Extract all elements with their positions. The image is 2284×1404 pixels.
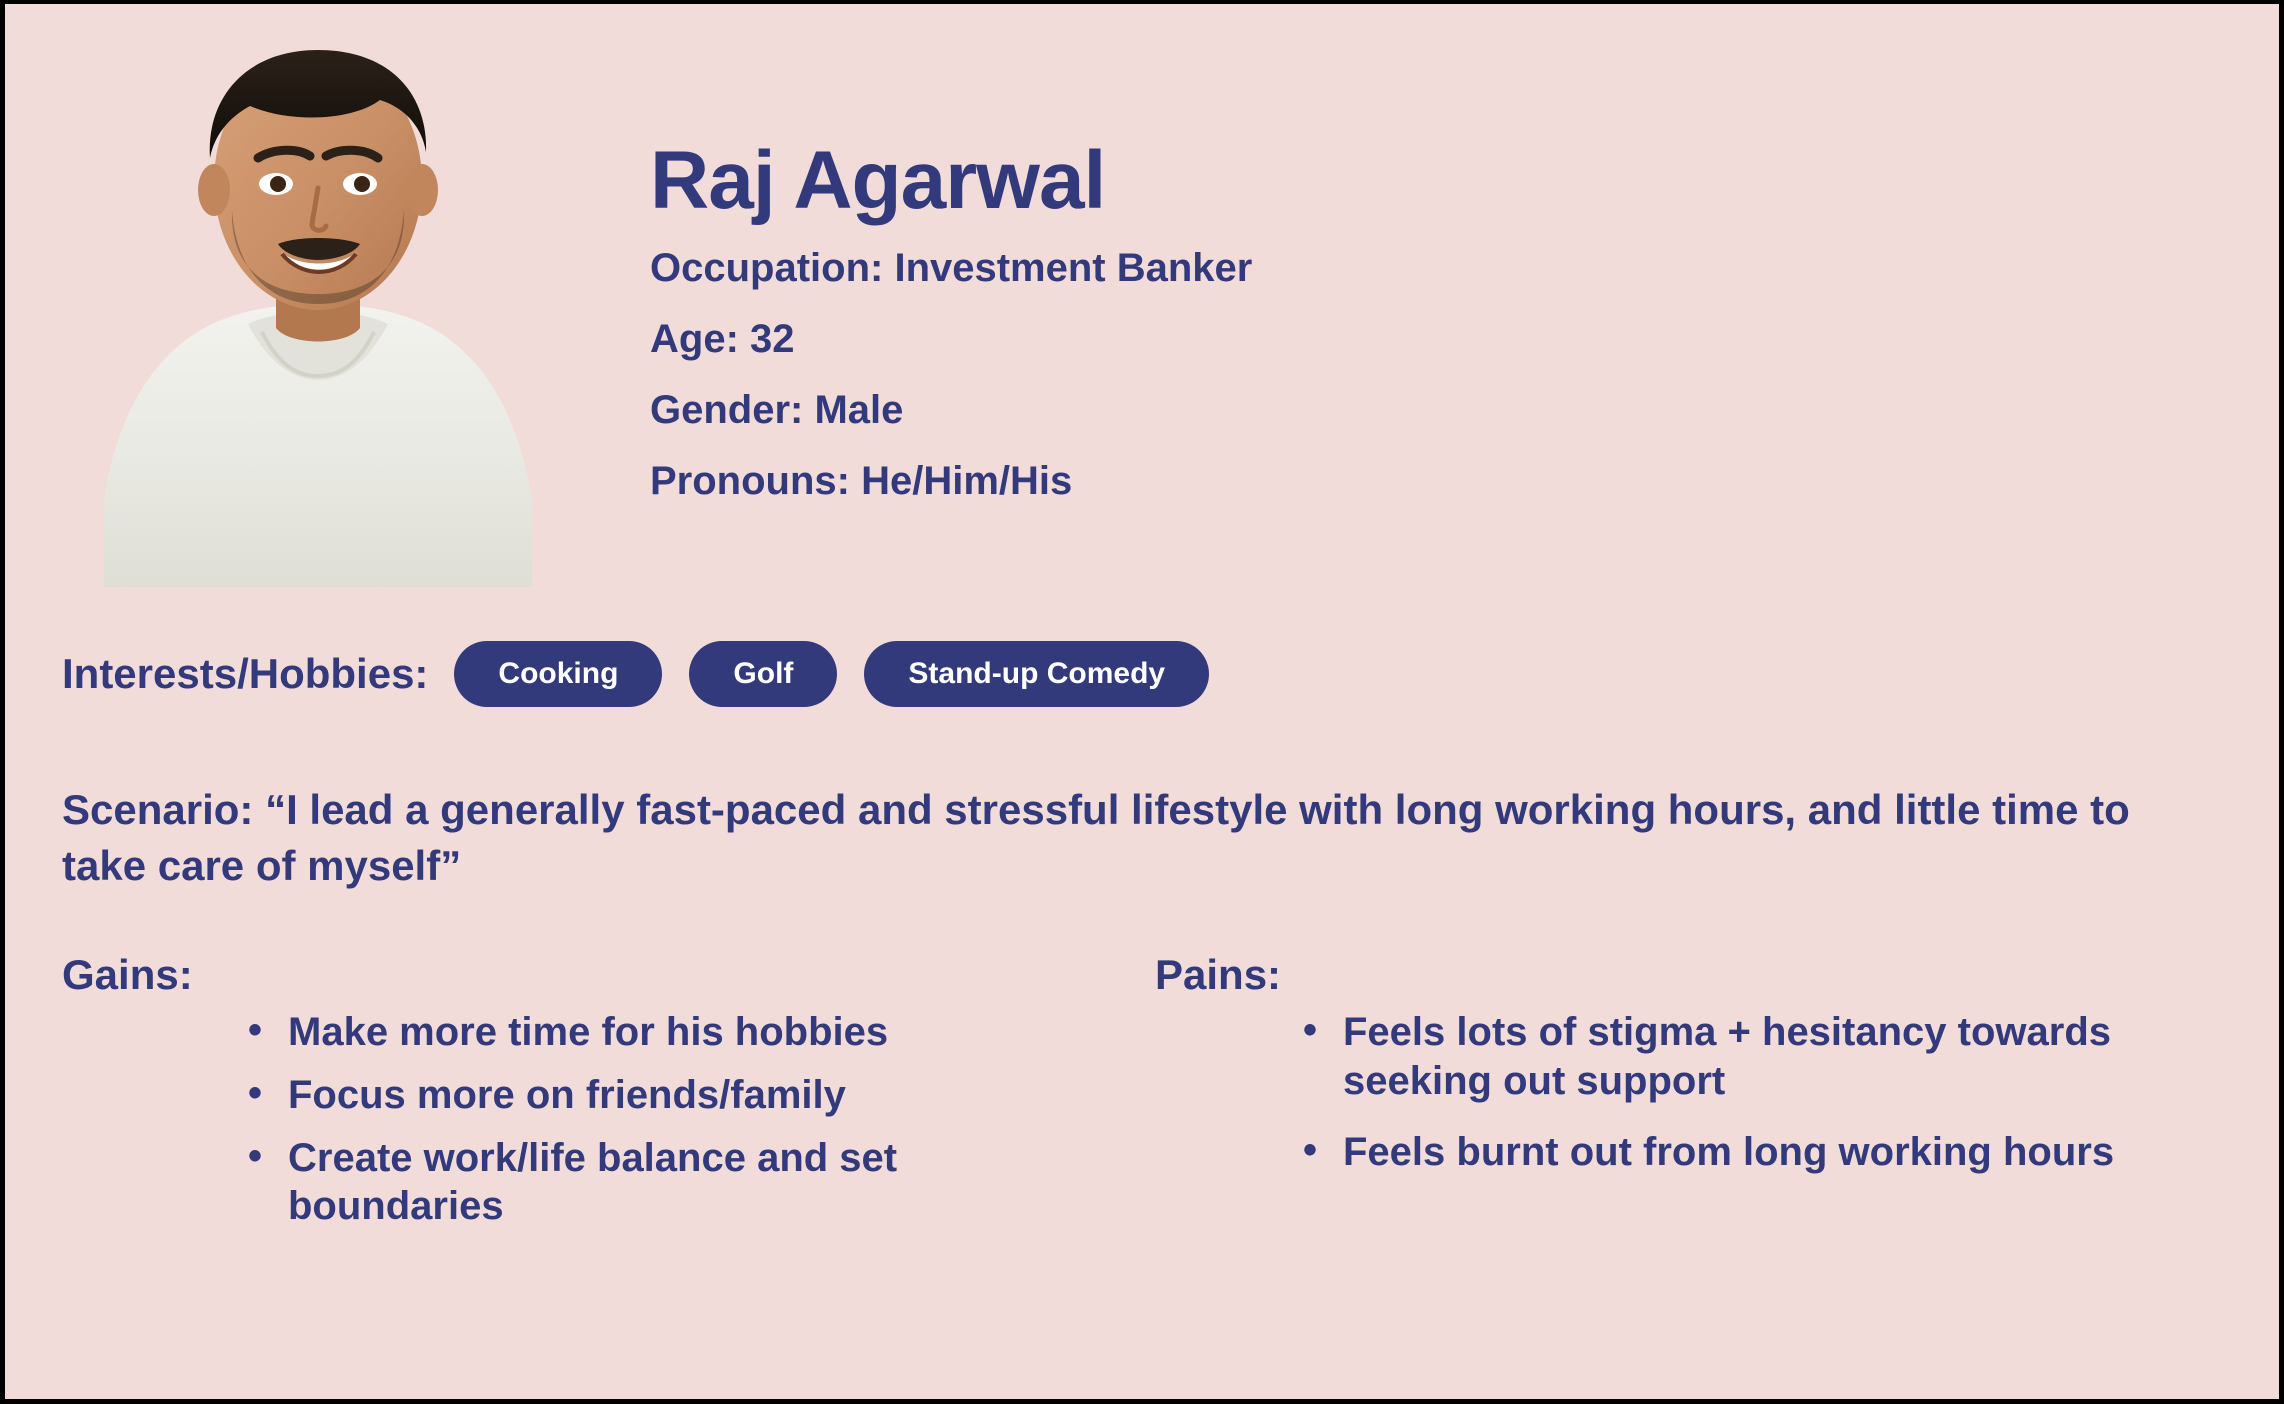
list-item: Feels lots of stigma + hesitancy towards… [1295, 1008, 2265, 1106]
interests-label: Interests/Hobbies: [62, 653, 428, 695]
identity-block: Raj Agarwal Occupation: Investment Banke… [650, 140, 2050, 501]
pains-column: Pains: Feels lots of stigma + hesitancy … [1155, 954, 2265, 1198]
gains-column: Gains: Make more time for his hobbies Fo… [62, 954, 1122, 1245]
page-title: Raj Agarwal [650, 140, 2050, 222]
gains-list: Make more time for his hobbies Focus mor… [240, 1008, 1122, 1231]
detail-gender: Gender: Male [650, 390, 2050, 430]
detail-age: Age: 32 [650, 319, 2050, 359]
interest-pill-standup-comedy[interactable]: Stand-up Comedy [864, 641, 1209, 707]
interest-pill-golf[interactable]: Golf [689, 641, 837, 707]
list-item: Make more time for his hobbies [240, 1008, 1122, 1057]
interest-pill-cooking[interactable]: Cooking [454, 641, 662, 707]
pains-title: Pains: [1155, 954, 2265, 996]
pains-list: Feels lots of stigma + hesitancy towards… [1295, 1008, 2265, 1176]
detail-occupation: Occupation: Investment Banker [650, 248, 2050, 288]
interests-section: Interests/Hobbies: Cooking Golf Stand-up… [62, 641, 1209, 707]
persona-card: Raj Agarwal Occupation: Investment Banke… [5, 4, 2279, 1399]
list-item: Focus more on friends/family [240, 1071, 1122, 1120]
detail-pronouns: Pronouns: He/Him/His [650, 461, 2050, 501]
scenario-text: Scenario: “I lead a generally fast-paced… [62, 782, 2192, 895]
gains-title: Gains: [62, 954, 1122, 996]
gains-pains-section: Gains: Make more time for his hobbies Fo… [5, 954, 2279, 1374]
list-item: Create work/life balance and set boundar… [240, 1134, 1122, 1232]
list-item: Feels burnt out from long working hours [1295, 1128, 2265, 1177]
person-photo [62, 32, 574, 587]
persona-header: Raj Agarwal Occupation: Investment Banke… [5, 4, 2279, 594]
